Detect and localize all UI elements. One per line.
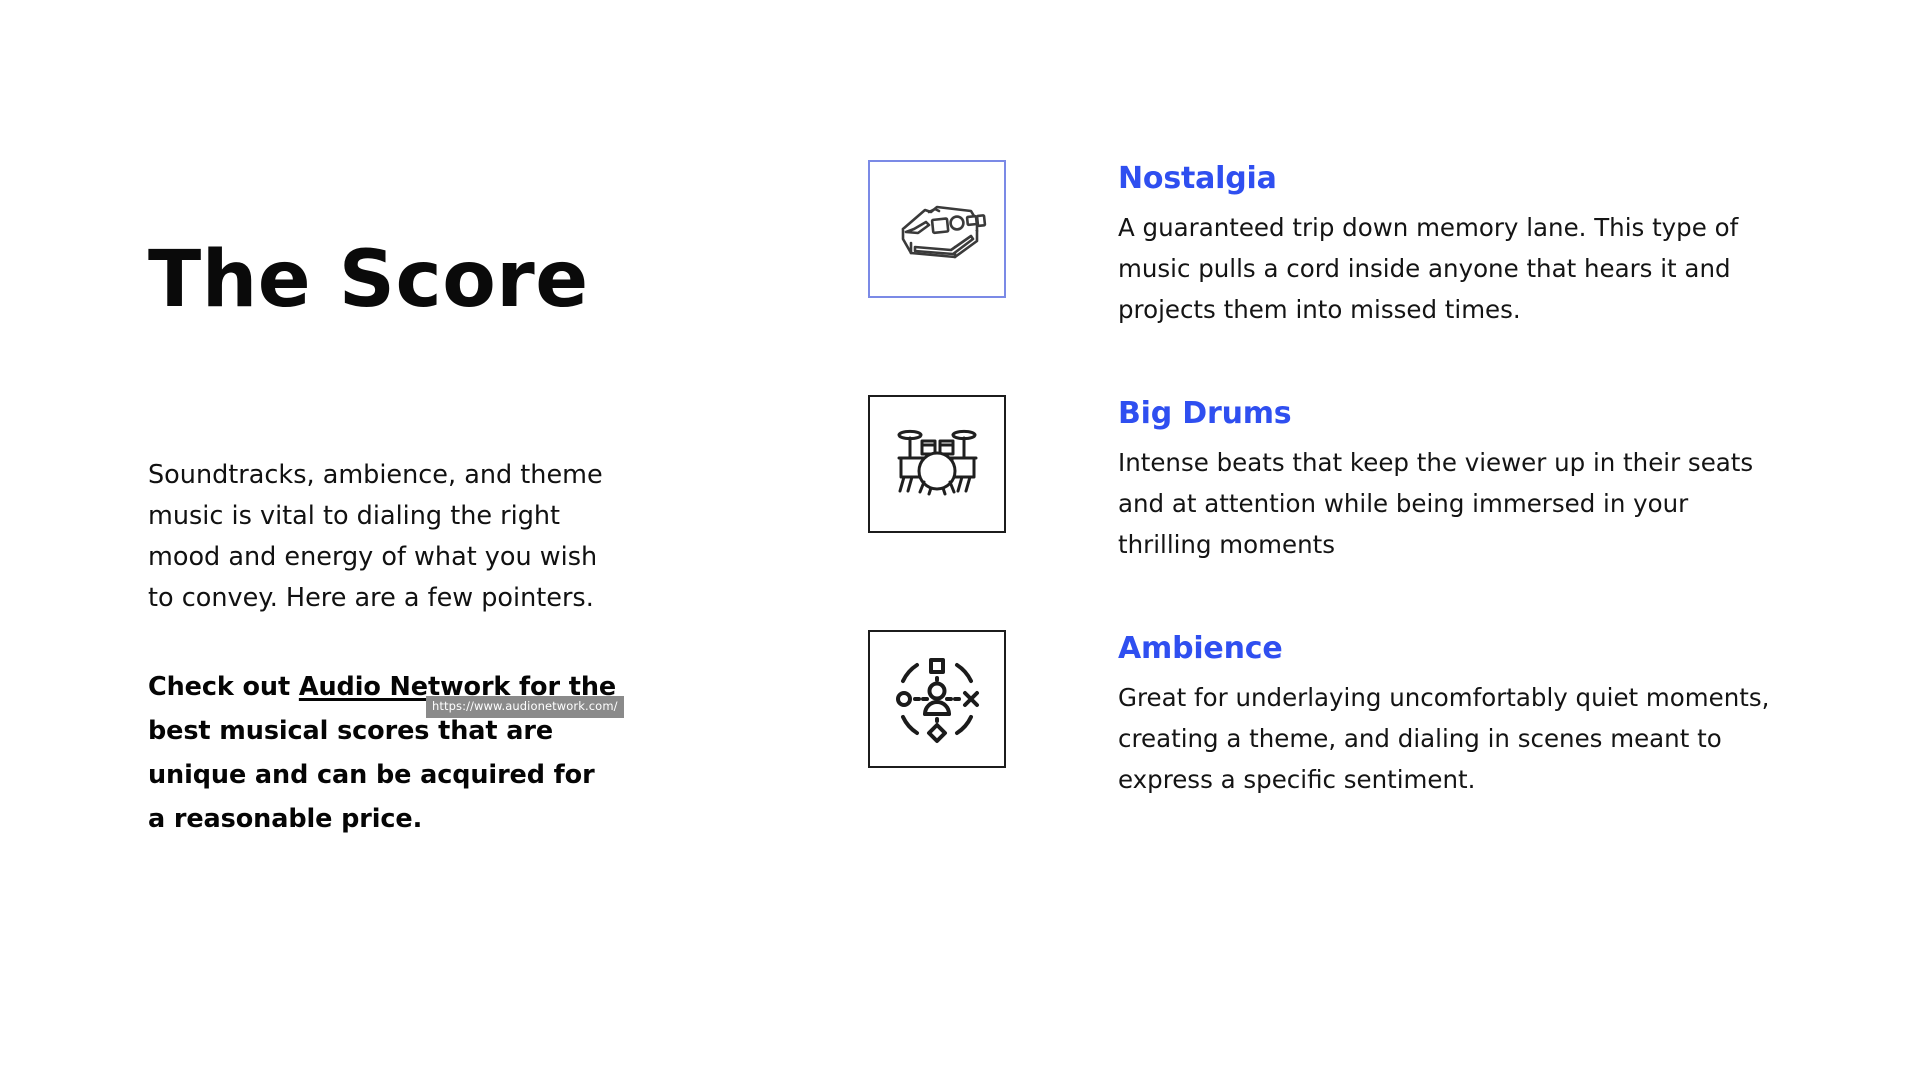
drum-kit-icon xyxy=(891,418,983,510)
feature-row-big-drums: Big Drums Intense beats that keep the vi… xyxy=(868,395,1788,565)
feature-title-nostalgia: Nostalgia xyxy=(1118,162,1788,195)
icon-box-nostalgia[interactable] xyxy=(868,160,1006,298)
feature-text-nostalgia: Nostalgia A guaranteed trip down memory … xyxy=(1118,160,1788,330)
feature-text-big-drums: Big Drums Intense beats that keep the vi… xyxy=(1118,395,1788,565)
feature-text-ambience: Ambience Great for underlaying uncomfort… xyxy=(1118,630,1788,800)
slide-canvas: The Score Soundtracks, ambience, and the… xyxy=(0,0,1920,1080)
feature-description-ambience: Great for underlaying uncomfortably quie… xyxy=(1118,677,1788,800)
feature-title-ambience: Ambience xyxy=(1118,632,1788,665)
intro-paragraph: Soundtracks, ambience, and theme music i… xyxy=(148,455,618,619)
icon-box-big-drums[interactable] xyxy=(868,395,1006,533)
cta-text-before: Check out xyxy=(148,672,299,702)
page-title: The Score xyxy=(148,240,618,322)
feature-description-nostalgia: A guaranteed trip down memory lane. This… xyxy=(1118,207,1788,330)
intro-paragraph-block: Soundtracks, ambience, and theme music i… xyxy=(148,455,618,619)
feature-description-big-drums: Intense beats that keep the viewer up in… xyxy=(1118,442,1788,565)
feature-row-nostalgia: Nostalgia A guaranteed trip down memory … xyxy=(868,160,1788,330)
feature-title-big-drums: Big Drums xyxy=(1118,397,1788,430)
instant-camera-icon xyxy=(885,177,989,281)
feature-row-ambience: Ambience Great for underlaying uncomfort… xyxy=(868,630,1788,800)
link-url-tooltip: https://www.audionetwork.com/ xyxy=(426,696,624,718)
title-block: The Score xyxy=(148,240,618,322)
surround-ambience-icon xyxy=(889,651,985,747)
cta-paragraph: Check out Audio Network for the best mus… xyxy=(148,665,618,841)
icon-box-ambience[interactable] xyxy=(868,630,1006,768)
features-list: Nostalgia A guaranteed trip down memory … xyxy=(868,160,1788,865)
